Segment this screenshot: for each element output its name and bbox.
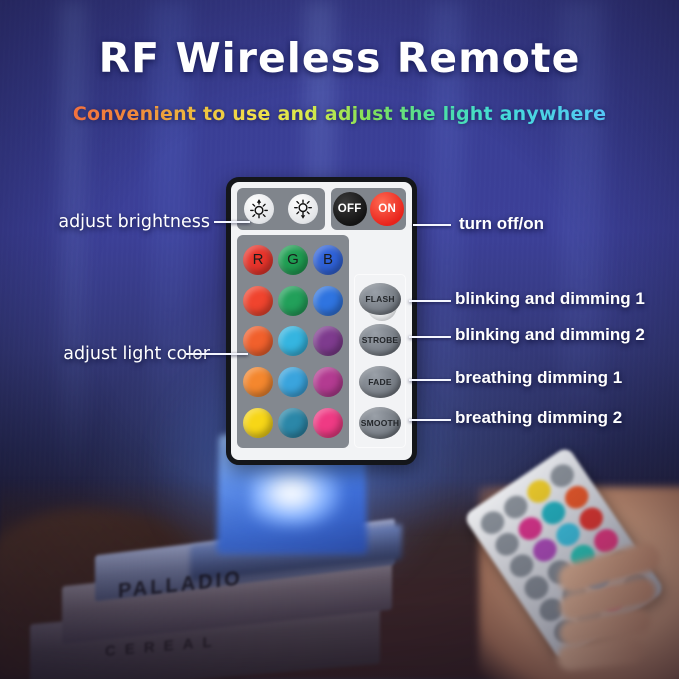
leader-line-turn-off-on [413, 224, 451, 226]
mode-button-strobe[interactable]: STROBE [359, 324, 401, 356]
leader-line-breathing-1 [409, 379, 451, 381]
power-off-button[interactable]: OFF [333, 192, 367, 226]
color-button[interactable] [313, 326, 343, 356]
brightness-down-icon [292, 198, 314, 220]
callout-breathing-dimming-1: breathing dimming 1 [455, 368, 622, 388]
color-button[interactable] [278, 367, 308, 397]
color-button[interactable] [243, 286, 273, 316]
color-button[interactable] [313, 286, 343, 316]
color-button-g-label: G [278, 245, 308, 275]
callout-adjust-brightness: adjust brightness [30, 212, 210, 232]
product-infographic: PALLADIO CEREAL RF Wireless Remote Conve… [0, 0, 679, 679]
color-button[interactable] [243, 367, 273, 397]
page-title: RF Wireless Remote [0, 34, 679, 82]
power-on-button[interactable]: ON [370, 192, 404, 226]
color-button[interactable] [278, 408, 308, 438]
remote-lower-section: R G B W FLASH STROBE [237, 235, 406, 448]
leader-line-blinking-1 [409, 300, 451, 302]
color-button[interactable] [278, 286, 308, 316]
color-button-r[interactable]: R [243, 245, 273, 275]
mode-button-fade[interactable]: FADE [359, 366, 401, 398]
color-button[interactable] [313, 367, 343, 397]
brightness-pad [237, 188, 325, 230]
remote-control: OFF ON R G B [226, 177, 417, 465]
callout-blinking-dimming-2: blinking and dimming 2 [455, 325, 645, 345]
color-button-r-label: R [243, 245, 273, 275]
power-pad: OFF ON [331, 188, 406, 230]
page-subtitle: Convenient to use and adjust the light a… [0, 103, 679, 125]
leader-line-blinking-2 [409, 336, 451, 338]
brightness-down-button[interactable] [288, 194, 318, 224]
leader-line-adjust-brightness [214, 221, 250, 223]
color-button[interactable] [313, 408, 343, 438]
mode-button-frame: FLASH STROBE FADE SMOOTH [354, 274, 406, 448]
color-button-grid: R G B [237, 235, 349, 448]
color-button-g[interactable]: G [278, 245, 308, 275]
color-button[interactable] [278, 326, 308, 356]
callout-blinking-dimming-1: blinking and dimming 1 [455, 289, 645, 309]
mode-button-smooth[interactable]: SMOOTH [359, 407, 401, 439]
callout-turn-off-on: turn off/on [459, 214, 544, 234]
callout-adjust-light-color: adjust light color [22, 344, 210, 364]
page-subtitle-text: Convenient to use and adjust the light a… [73, 103, 606, 125]
mode-column: W FLASH STROBE FADE SMOOTH [354, 235, 406, 448]
color-button-b[interactable]: B [313, 245, 343, 275]
color-button[interactable] [243, 326, 273, 356]
leader-line-breathing-2 [409, 419, 451, 421]
mode-button-flash[interactable]: FLASH [359, 283, 401, 315]
brightness-up-icon [248, 198, 270, 220]
brightness-up-button[interactable] [244, 194, 274, 224]
leader-line-adjust-light-color [186, 353, 248, 355]
callout-breathing-dimming-2: breathing dimming 2 [455, 408, 622, 428]
remote-top-row: OFF ON [237, 188, 406, 230]
color-button-b-label: B [313, 245, 343, 275]
color-button[interactable] [243, 408, 273, 438]
